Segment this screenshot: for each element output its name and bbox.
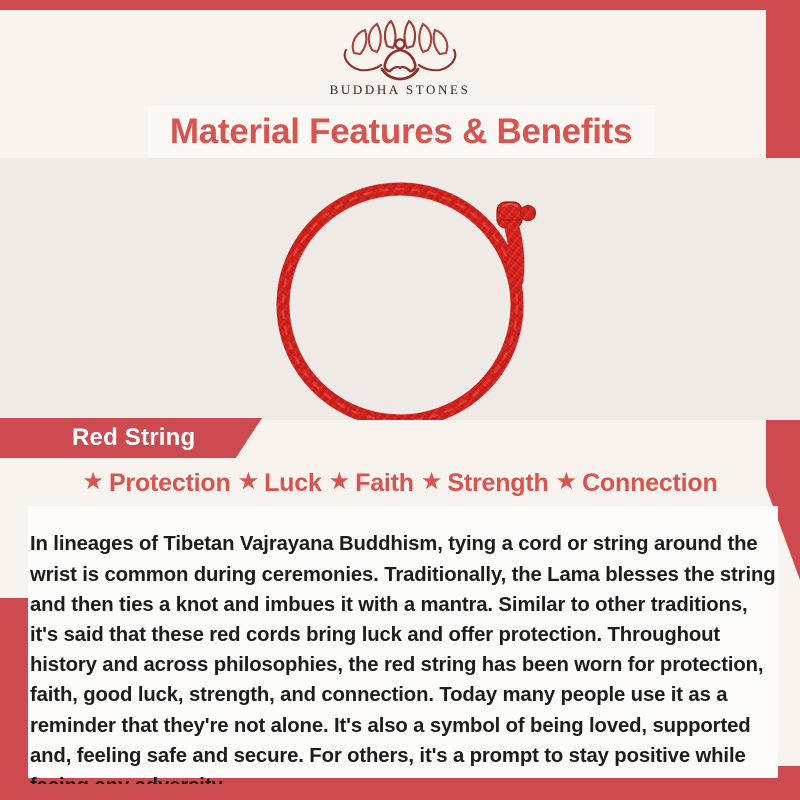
benefit-item: ★ Connection	[556, 469, 718, 498]
benefit-label: Strength	[447, 469, 548, 498]
benefit-item: ★ Faith	[329, 469, 414, 498]
star-icon: ★	[329, 470, 351, 494]
benefit-label: Faith	[355, 469, 414, 498]
page-title: Material Features & Benefits	[170, 112, 632, 152]
benefit-item: ★ Strength	[421, 469, 549, 498]
description-text: In lineages of Tibetan Vajrayana Buddhis…	[30, 529, 778, 800]
decor-band-bottom-inner	[0, 784, 800, 800]
star-icon: ★	[82, 470, 104, 494]
description-panel: In lineages of Tibetan Vajrayana Buddhis…	[28, 506, 778, 778]
brand-logo: BUDDHA STONES	[330, 17, 471, 98]
benefit-label: Connection	[582, 469, 718, 498]
infographic-page: BUDDHA STONES Material Features & Benefi…	[0, 0, 800, 800]
decor-band-top	[0, 0, 800, 10]
product-name-banner: Red String	[0, 418, 262, 458]
brand-name: BUDDHA STONES	[330, 82, 471, 98]
benefit-label: Luck	[264, 469, 322, 498]
benefit-item: ★ Luck	[238, 469, 322, 498]
brand-header: BUDDHA STONES	[0, 10, 800, 105]
star-icon: ★	[421, 470, 443, 494]
star-icon: ★	[556, 470, 578, 494]
benefit-item: ★ Protection	[82, 469, 230, 498]
red-string-bracelet-image	[250, 180, 550, 420]
lotus-meditation-icon	[332, 17, 468, 81]
product-name: Red String	[72, 424, 195, 452]
product-photo	[0, 158, 800, 420]
title-banner: Material Features & Benefits	[148, 105, 654, 158]
star-icon: ★	[238, 470, 260, 494]
benefits-row: ★ Protection ★ Luck ★ Faith ★ Strength ★…	[0, 462, 800, 504]
benefit-label: Protection	[109, 469, 231, 498]
